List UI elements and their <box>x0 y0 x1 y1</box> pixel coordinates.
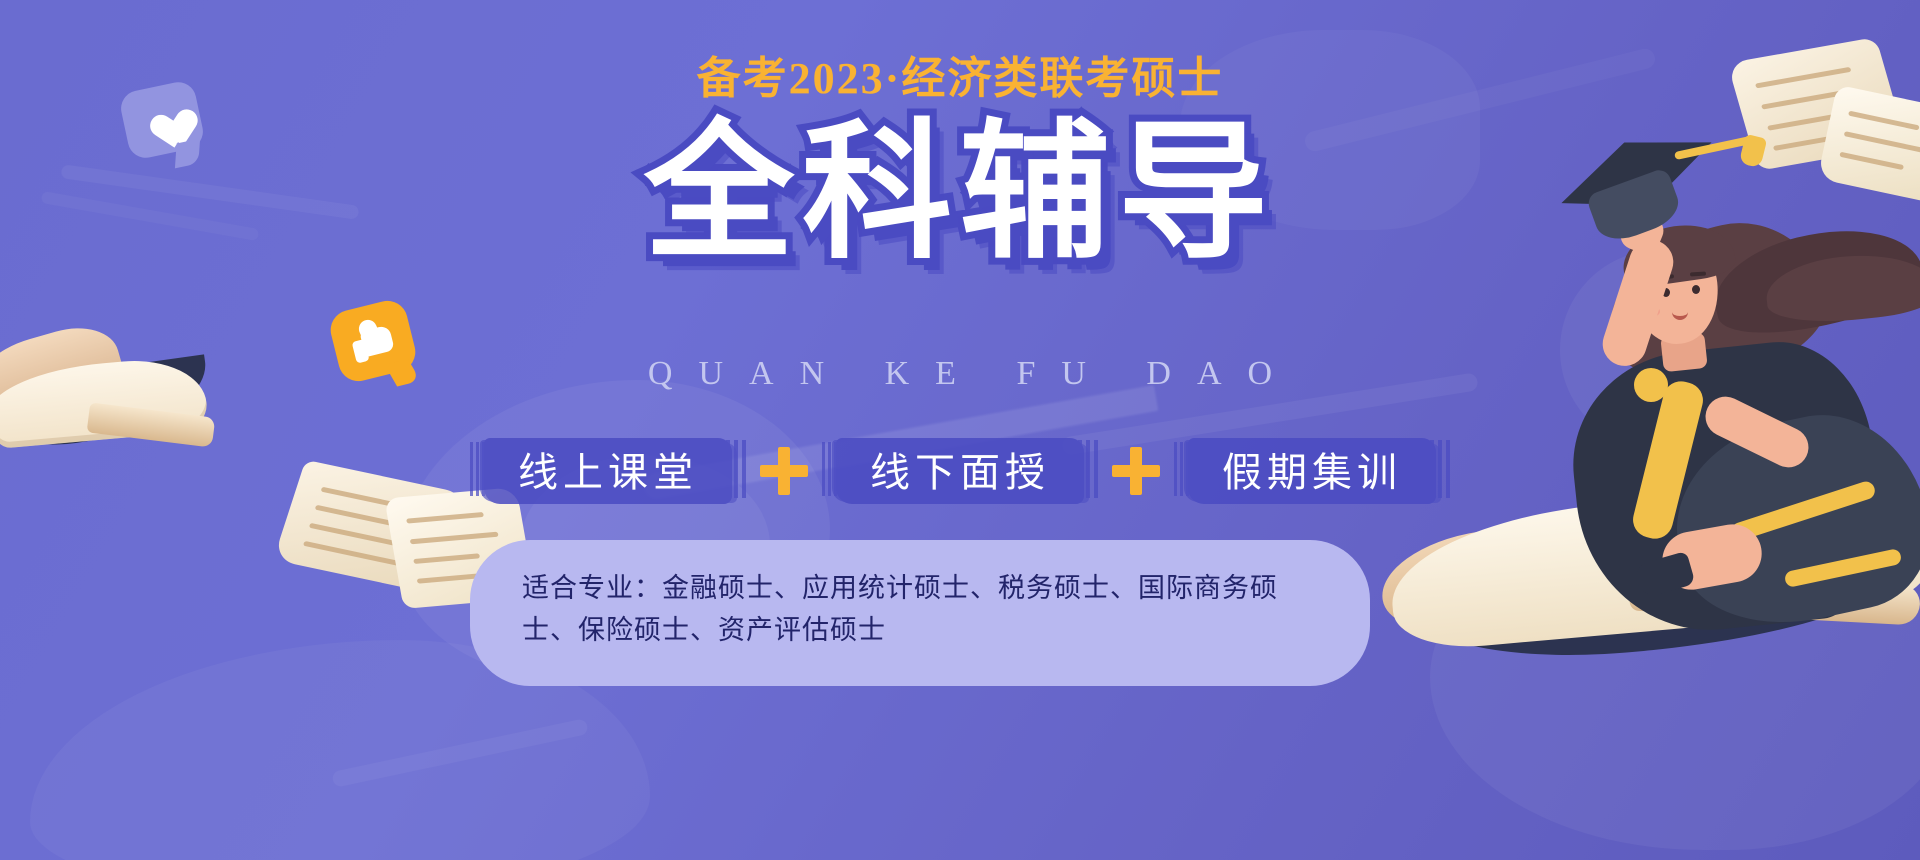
feature-label: 假期集训 <box>1222 450 1402 496</box>
feature-label: 线上课堂 <box>518 450 698 496</box>
feature-item-holiday-camp[interactable]: 假期集训 <box>1188 432 1436 510</box>
banner-content: 备考2023·经济类联考硕士 全科辅导 QUAN KE FU DAO 线上课堂 … <box>0 0 1920 860</box>
promo-banner: 备考2023·经济类联考硕士 全科辅导 QUAN KE FU DAO 线上课堂 … <box>0 0 1920 860</box>
plus-icon <box>1108 443 1164 499</box>
feature-item-offline-class[interactable]: 线下面授 <box>836 432 1084 510</box>
banner-main-title: 全科辅导 <box>0 118 1920 268</box>
banner-kicker: 备考2023·经济类联考硕士 <box>0 42 1920 106</box>
feature-row: 线上课堂 线下面授 假期集训 <box>0 432 1920 510</box>
description-text: 适合专业：金融硕士、应用统计硕士、税务硕士、国际商务硕士、保险硕士、资产评估硕士 <box>522 568 1310 652</box>
plus-icon <box>756 443 812 499</box>
banner-pinyin-subtitle: QUAN KE FU DAO <box>0 355 1920 393</box>
feature-item-online-class[interactable]: 线上课堂 <box>484 432 732 510</box>
description-pill: 适合专业：金融硕士、应用统计硕士、税务硕士、国际商务硕士、保险硕士、资产评估硕士 <box>470 540 1370 686</box>
feature-label: 线下面授 <box>870 450 1050 496</box>
